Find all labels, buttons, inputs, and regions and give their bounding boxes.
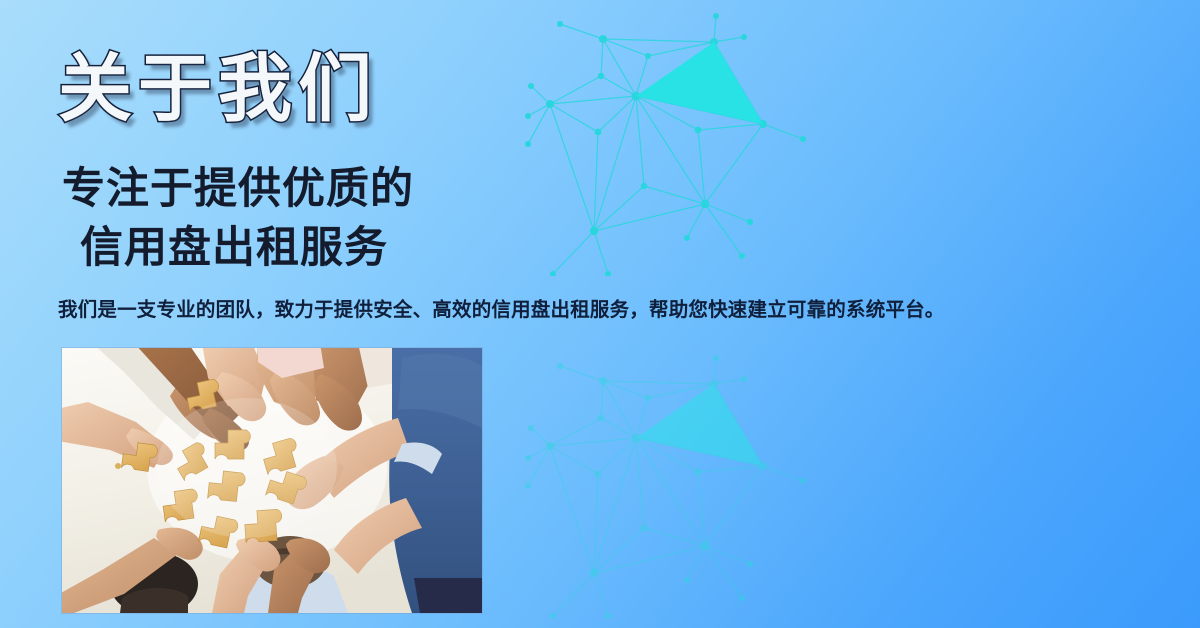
subtitle-line-2: 信用盘出租服务 bbox=[62, 219, 414, 278]
teamwork-photo-image bbox=[62, 348, 482, 613]
subtitle: 专注于提供优质的 信用盘出租服务 bbox=[62, 160, 414, 279]
about-us-banner: 关于我们 专注于提供优质的 信用盘出租服务 我们是一支专业的团队，致力于提供安全… bbox=[0, 0, 1200, 628]
description-text: 我们是一支专业的团队，致力于提供安全、高效的信用盘出租服务，帮助您快速建立可靠的… bbox=[58, 297, 1148, 324]
network-graphic-top bbox=[498, 6, 838, 276]
teamwork-photo bbox=[62, 348, 482, 613]
subtitle-line-1: 专注于提供优质的 bbox=[62, 165, 414, 213]
page-title: 关于我们 bbox=[58, 52, 378, 126]
network-graphic-bottom bbox=[498, 338, 838, 628]
